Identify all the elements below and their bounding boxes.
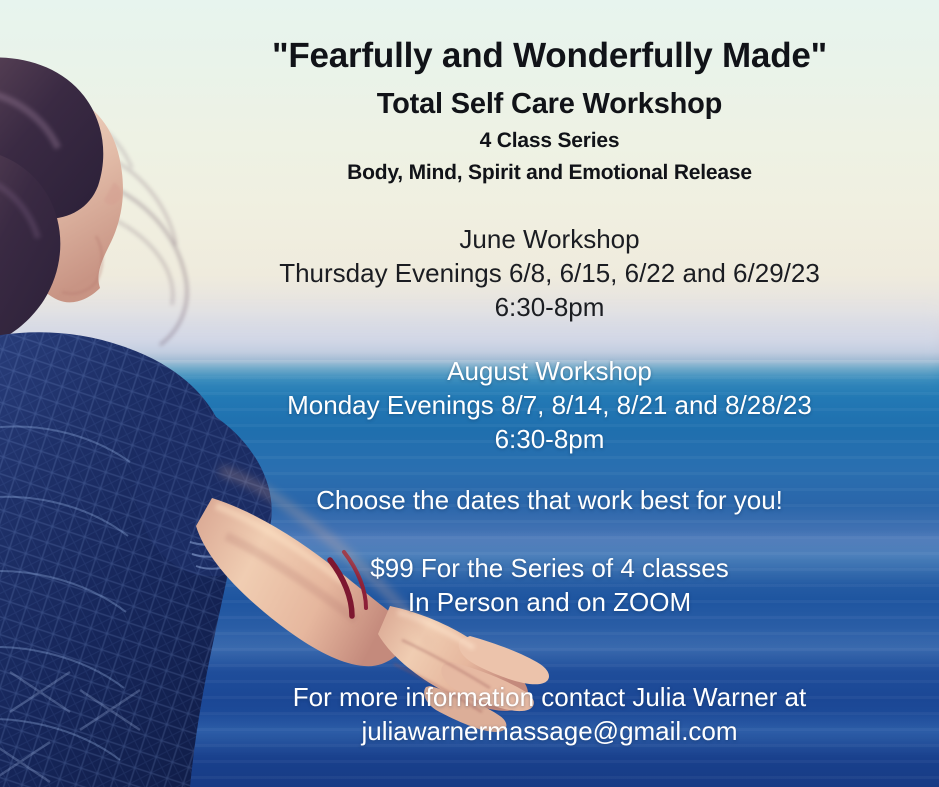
flyer-title: "Fearfully and Wonderfully Made" [160,34,939,78]
flyer-subtitle: Total Self Care Workshop [160,85,939,123]
august-workshop-block: August Workshop Monday Evenings 8/7, 8/1… [160,354,939,456]
topics-line: Body, Mind, Spirit and Emotional Release [160,158,939,188]
august-time: 6:30-8pm [160,422,939,456]
contact-line: For more information contact Julia Warne… [160,680,939,714]
class-series-line: 4 Class Series [160,126,939,156]
price-line: $99 For the Series of 4 classes [160,551,939,585]
contact-email: juliawarnermassage@gmail.com [160,714,939,748]
contact-block: For more information contact Julia Warne… [160,680,939,748]
august-dates: Monday Evenings 8/7, 8/14, 8/21 and 8/28… [160,388,939,422]
june-workshop-block: June Workshop Thursday Evenings 6/8, 6/1… [160,222,939,324]
pricing-block: $99 For the Series of 4 classes In Perso… [160,551,939,619]
june-heading: June Workshop [160,222,939,256]
choose-dates-line: Choose the dates that work best for you! [160,483,939,517]
june-dates: Thursday Evenings 6/8, 6/15, 6/22 and 6/… [160,256,939,290]
flyer-text-layer: "Fearfully and Wonderfully Made" Total S… [160,0,939,787]
workshop-flyer: "Fearfully and Wonderfully Made" Total S… [0,0,939,787]
format-line: In Person and on ZOOM [160,585,939,619]
june-time: 6:30-8pm [160,290,939,324]
august-heading: August Workshop [160,354,939,388]
